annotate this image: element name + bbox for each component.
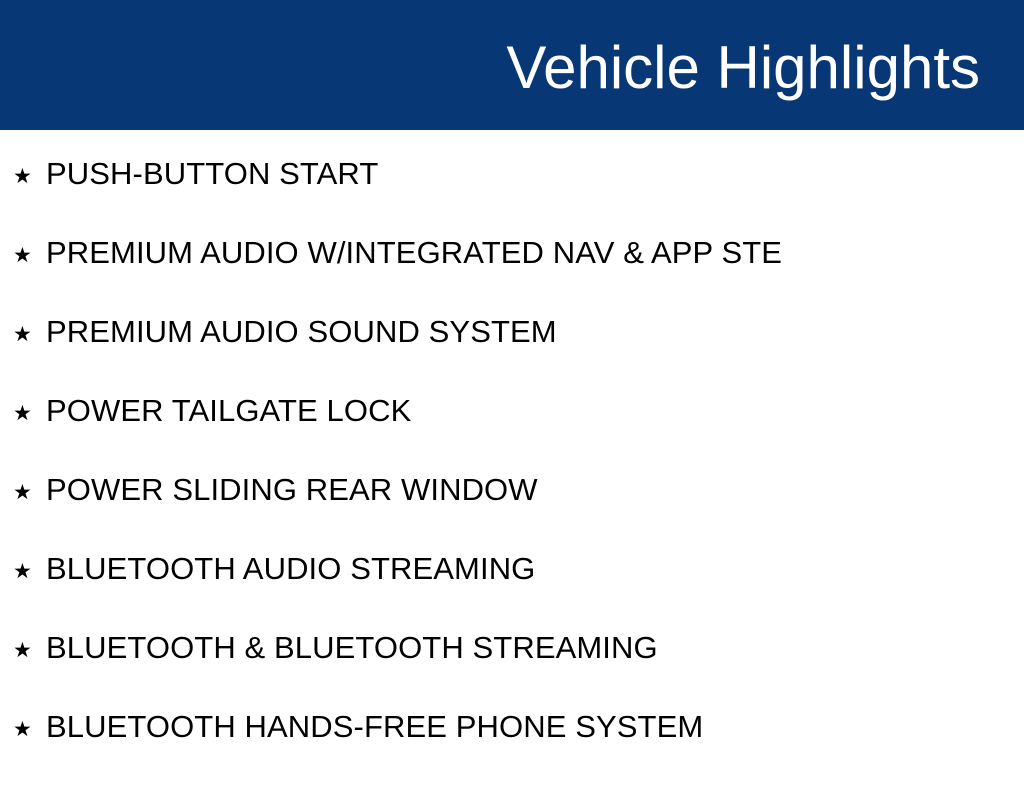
highlight-label: POWER SLIDING REAR WINDOW <box>46 474 1024 505</box>
highlight-label: PREMIUM AUDIO W/INTEGRATED NAV & APP STE <box>46 237 1024 268</box>
vehicle-highlights-list: ★ PUSH-BUTTON START ★ PREMIUM AUDIO W/IN… <box>0 130 1024 768</box>
star-icon: ★ <box>13 482 46 503</box>
star-icon: ★ <box>13 561 46 582</box>
list-item: ★ BLUETOOTH & BLUETOOTH STREAMING <box>0 632 1024 711</box>
star-icon: ★ <box>13 324 46 345</box>
star-icon: ★ <box>13 403 46 424</box>
list-item: ★ PUSH-BUTTON START <box>0 130 1024 237</box>
highlight-label: POWER TAILGATE LOCK <box>46 395 1024 426</box>
star-icon: ★ <box>13 719 46 740</box>
list-item: ★ BLUETOOTH HANDS-FREE PHONE SYSTEM <box>0 711 1024 790</box>
star-icon: ★ <box>13 166 46 187</box>
list-item: ★ BLUETOOTH AUDIO STREAMING <box>0 553 1024 632</box>
highlight-label: BLUETOOTH AUDIO STREAMING <box>46 553 1024 584</box>
list-item: ★ POWER TAILGATE LOCK <box>0 395 1024 474</box>
highlight-label: BLUETOOTH HANDS-FREE PHONE SYSTEM <box>46 711 1024 742</box>
highlight-label: PREMIUM AUDIO SOUND SYSTEM <box>46 316 1024 347</box>
header-band: Vehicle Highlights <box>0 0 1024 130</box>
list-item: ★ PREMIUM AUDIO W/INTEGRATED NAV & APP S… <box>0 237 1024 316</box>
list-item: ★ PREMIUM AUDIO SOUND SYSTEM <box>0 316 1024 395</box>
highlight-label: PUSH-BUTTON START <box>46 158 1024 189</box>
page-title: Vehicle Highlights <box>506 36 980 99</box>
vehicle-highlights-slide: Vehicle Highlights ★ PUSH-BUTTON START ★… <box>0 0 1024 768</box>
highlight-label: BLUETOOTH & BLUETOOTH STREAMING <box>46 632 1024 663</box>
star-icon: ★ <box>13 245 46 266</box>
list-item: ★ POWER SLIDING REAR WINDOW <box>0 474 1024 553</box>
star-icon: ★ <box>13 640 46 661</box>
